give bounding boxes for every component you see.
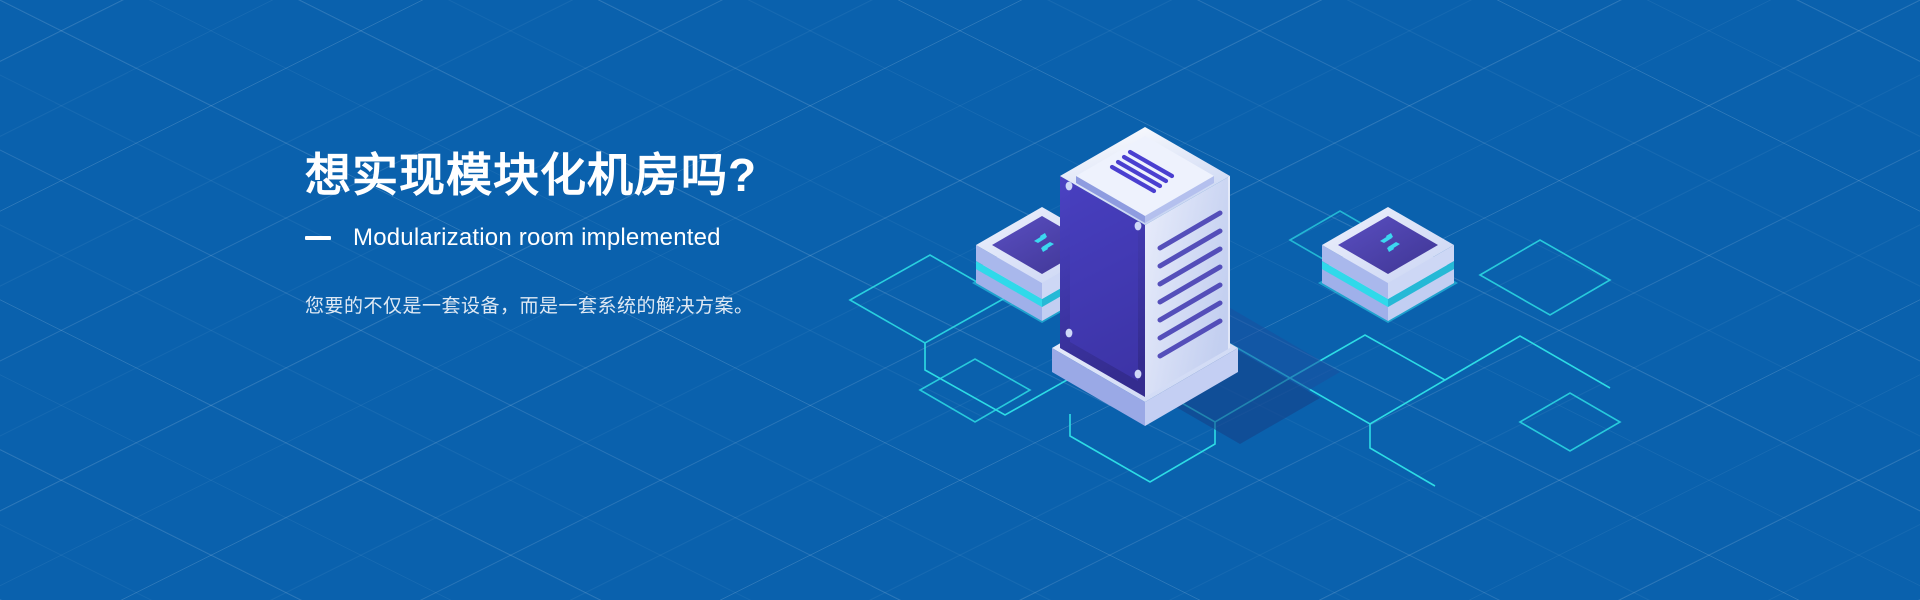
dash-rule-icon	[305, 236, 331, 240]
subheadline: Modularization room implemented	[353, 224, 721, 252]
server-room-illustration	[820, 70, 1640, 500]
hero-banner: 想实现模块化机房吗? Modularization room implement…	[0, 0, 1920, 600]
chip-module-icon	[1318, 207, 1458, 323]
server-tower-icon	[1052, 127, 1238, 426]
